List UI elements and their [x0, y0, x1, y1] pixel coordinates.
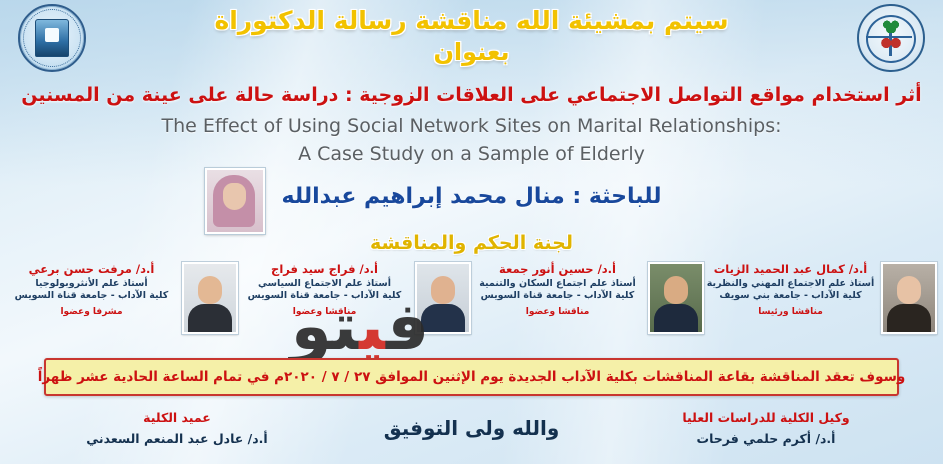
committee-member-details: أ.د/ كمال عبد الحميد الزيات أستاذ علم ال… [705, 258, 876, 318]
committee-member-role-line1: أستاذ علم الاجتماع السياسي [239, 278, 410, 290]
dean-title: عميد الكلية [52, 410, 302, 425]
committee-list: أ.د/ كمال عبد الحميد الزيات أستاذ علم ال… [0, 258, 943, 354]
committee-member-status: مشرفا وعضوا [6, 307, 177, 318]
dean-name: أ.د/ عادل عبد المنعم السعدني [52, 431, 302, 446]
committee-member-name: أ.د/ مرفت حسن برعي [6, 262, 177, 276]
researcher-section: للباحثة : منال محمد إبراهيم عبدالله [0, 168, 943, 234]
committee-member-role-line2: كلية الآداب - جامعة قناة السويس [472, 290, 643, 302]
committee-member-role-line1: أستاذ علم الأنثروبولوجيا [6, 278, 177, 290]
committee-member: أ.د/ فراج سيد فراج أستاذ علم الاجتماع ال… [239, 258, 471, 334]
committee-member-details: أ.د/ مرفت حسن برعي أستاذ علم الأنثروبولو… [6, 258, 177, 318]
committee-member-details: أ.د/ حسين أنور جمعة أستاذ علم اجتماع الس… [472, 258, 643, 318]
thesis-title-english-line1: The Effect of Using Social Network Sites… [0, 115, 943, 137]
committee-member-role-line2: كلية الآداب - جامعة قناة السويس [6, 290, 177, 302]
committee-member-name: أ.د/ فراج سيد فراج [239, 262, 410, 276]
photo-body-shape [654, 304, 698, 332]
committee-member-status: مناقشا وعضوا [239, 307, 410, 318]
committee-heading: لجنة الحكم والمناقشة [0, 232, 943, 254]
researcher-name: للباحثة : منال محمد إبراهيم عبدالله [0, 184, 943, 209]
announcement-headline: سيتم بمشيئة الله مناقشة رسالة الدكتوراة [0, 6, 943, 35]
photo-head-shape [198, 276, 222, 304]
committee-member-details: أ.د/ فراج سيد فراج أستاذ علم الاجتماع ال… [239, 258, 410, 318]
photo-head-shape [431, 276, 455, 304]
committee-member: أ.د/ كمال عبد الحميد الزيات أستاذ علم ال… [705, 258, 937, 334]
committee-member-name: أ.د/ كمال عبد الحميد الزيات [705, 262, 876, 276]
committee-member-role-line1: أستاذ علم اجتماع السكان والتنمية [472, 278, 643, 290]
committee-member: أ.د/ مرفت حسن برعي أستاذ علم الأنثروبولو… [6, 258, 238, 334]
thesis-title-english-line2: A Case Study on a Sample of Elderly [0, 143, 943, 165]
committee-member-role-line2: كلية الآداب - جامعة بني سويف [705, 290, 876, 302]
thesis-defense-announcement-poster: سيتم بمشيئة الله مناقشة رسالة الدكتوراة … [0, 0, 943, 464]
poster-footer: وكيل الكلية للدراسات العليا أ.د/ أكرم حل… [0, 400, 943, 464]
defense-details-text: وسوف تعقد المناقشة بقاعة المناقشات بكلية… [38, 369, 905, 385]
announcement-subheadline: بعنوان [0, 38, 943, 66]
thesis-title-arabic: أثر استخدام مواقع التواصل الاجتماعي على … [0, 84, 943, 106]
committee-member-photo [648, 262, 704, 334]
committee-member-role-line2: كلية الآداب - جامعة قناة السويس [239, 290, 410, 302]
photo-body-shape [188, 304, 232, 332]
committee-member-photo [182, 262, 238, 334]
committee-member-status: مناقشا ورئيسا [705, 307, 876, 318]
photo-head-shape [664, 276, 688, 304]
defense-details-banner: وسوف تعقد المناقشة بقاعة المناقشات بكلية… [44, 358, 899, 396]
committee-member-photo [881, 262, 937, 334]
committee-member-name: أ.د/ حسين أنور جمعة [472, 262, 643, 276]
committee-member-role-line1: أستاذ علم الاجتماع المهني والنظرية [705, 278, 876, 290]
photo-body-shape [887, 304, 931, 332]
dean-signature-block: عميد الكلية أ.د/ عادل عبد المنعم السعدني [52, 410, 302, 446]
committee-member: أ.د/ حسين أنور جمعة أستاذ علم اجتماع الس… [472, 258, 704, 334]
committee-member-photo [415, 262, 471, 334]
photo-head-shape [897, 276, 921, 304]
poster-header: سيتم بمشيئة الله مناقشة رسالة الدكتوراة … [0, 0, 943, 78]
committee-member-status: مناقشا وعضوا [472, 307, 643, 318]
photo-body-shape [421, 304, 465, 332]
